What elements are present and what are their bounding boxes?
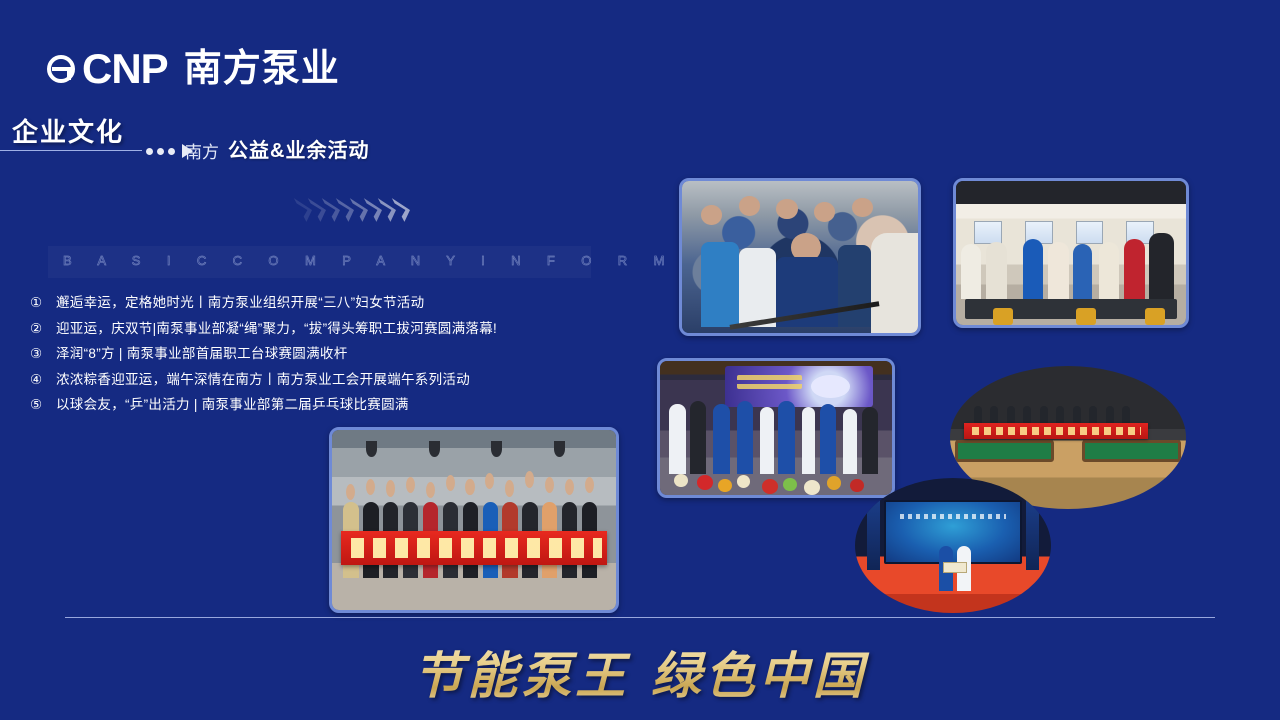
list-item-label: 邂逅幸运，定格她时光丨南方泵业组织开展“三八”妇女节活动: [56, 291, 424, 311]
bottom-divider: [65, 617, 1215, 618]
list-item-label: 迎亚运，庆双节|南泵事业部凝“绳”聚力，“拔”得头筹职工拔河赛圆满落幕!: [56, 317, 497, 337]
subtitle-light: 南方: [185, 138, 219, 163]
list-item-number: ②: [30, 321, 56, 337]
list-item-number: ③: [30, 346, 56, 362]
list-item: ① 邂逅幸运，定格她时光丨南方泵业组织开展“三八”妇女节活动: [30, 291, 630, 317]
page-title: 企业文化: [12, 112, 124, 149]
list-item: ④ 浓浓粽香迎亚运，端午深情在南方丨南方泵业工会开展端午系列活动: [30, 368, 630, 394]
brand-logo: CNP 南方泵业: [46, 48, 340, 90]
list-item-label: 泽润“8”方 | 南泵事业部首届职工台球赛圆满收杆: [56, 342, 348, 362]
title-underline: [0, 150, 142, 151]
list-item-number: ①: [30, 295, 56, 311]
photo-tug-of-war: [679, 178, 921, 336]
brand-chinese-name: 南方泵业: [184, 50, 340, 88]
chevron-right-repeat-icon: [300, 198, 410, 222]
cnp-circle-emblem-icon: [46, 54, 76, 84]
photo-event-hall: [657, 358, 895, 498]
activity-list: ① 邂逅幸运，定格她时光丨南方泵业组织开展“三八”妇女节活动 ② 迎亚运，庆双节…: [30, 291, 630, 419]
photo-award-ceremony: [855, 478, 1051, 613]
list-item-number: ⑤: [30, 397, 56, 413]
section-headline: 企业文化 南方 公益&业余活动: [0, 112, 640, 167]
subtitle-bold: 公益&业余活动: [228, 134, 369, 163]
slogan-text: 节能泵王 绿色中国: [0, 636, 1280, 708]
list-item: ⑤ 以球会友，“乒”出活力 | 南泵事业部第二届乒乓球比赛圆满: [30, 393, 630, 419]
list-item: ② 迎亚运，庆双节|南泵事业部凝“绳”聚力，“拔”得头筹职工拔河赛圆满落幕!: [30, 317, 630, 343]
list-item-label: 浓浓粽香迎亚运，端午深情在南方丨南方泵业工会开展端午系列活动: [56, 368, 470, 388]
photo-zongzi-workshop: [953, 178, 1189, 328]
list-item-number: ④: [30, 372, 56, 388]
list-item: ③ 泽润“8”方 | 南泵事业部首届职工台球赛圆满收杆: [30, 342, 630, 368]
brand-latin-name: CNP: [82, 48, 168, 90]
list-item-label: 以球会友，“乒”出活力 | 南泵事业部第二届乒乓球比赛圆满: [56, 393, 409, 413]
photo-pingpong-group: [329, 427, 619, 613]
slide-canvas: CNP 南方泵业 企业文化 南方 公益&业余活动 B A S I C C O M…: [0, 0, 1280, 720]
